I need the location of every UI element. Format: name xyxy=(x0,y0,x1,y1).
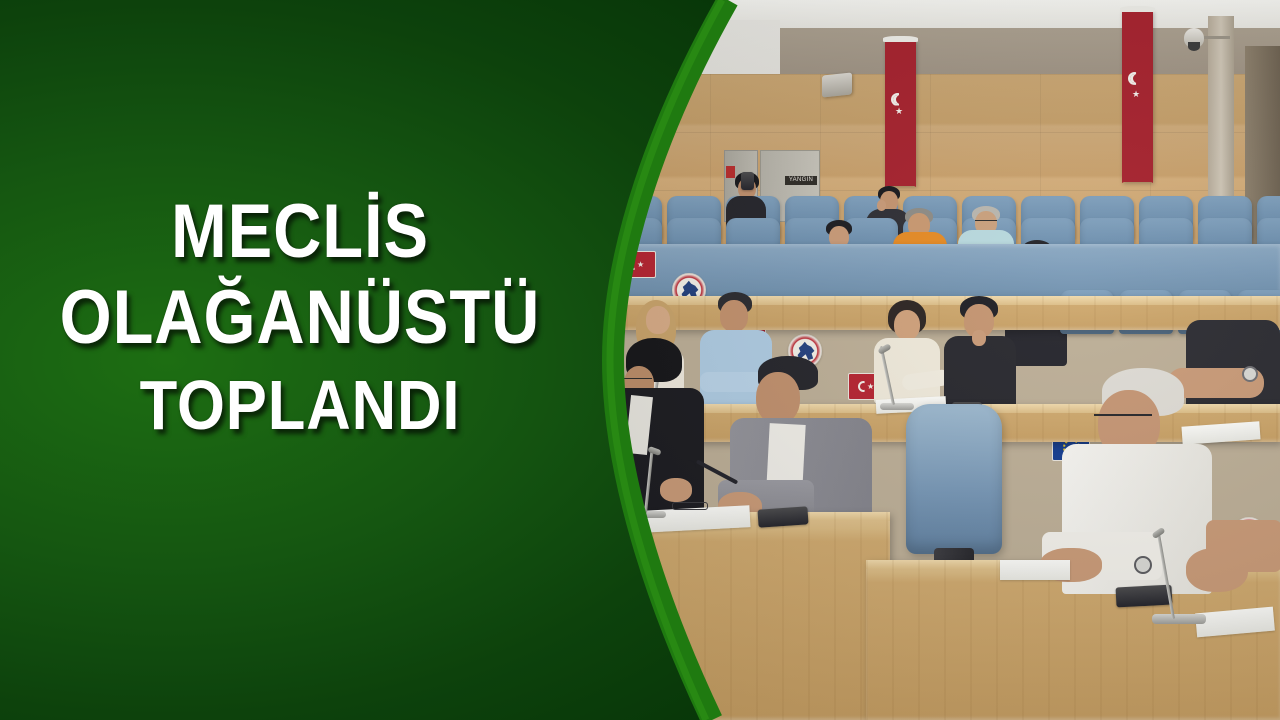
glasses-icon xyxy=(975,220,997,224)
desk-tier-3 xyxy=(600,296,1280,330)
head xyxy=(646,306,670,334)
mobile-phone xyxy=(1116,585,1173,608)
glasses-icon xyxy=(620,378,652,382)
hand xyxy=(877,200,886,211)
paper-stack xyxy=(1000,560,1070,580)
banner-notch xyxy=(1122,167,1153,183)
mobile-phone xyxy=(757,506,808,527)
turkish-flag-banner xyxy=(1122,10,1153,182)
turkish-flag-banner xyxy=(885,40,916,186)
news-banner-image: YANGIN xyxy=(0,0,1280,720)
chair xyxy=(906,404,1002,554)
hand xyxy=(660,478,692,502)
microphone-base xyxy=(1152,614,1206,624)
microphone-base xyxy=(632,511,666,518)
torso xyxy=(1186,320,1280,412)
fire-cabinet-sign: YANGIN xyxy=(785,176,817,185)
security-camera-icon xyxy=(1184,28,1204,48)
hand xyxy=(972,330,986,346)
crescent-icon xyxy=(1128,72,1141,85)
headline-line-1: MECLİS xyxy=(36,196,564,268)
fire-alarm-box xyxy=(726,166,735,178)
wristwatch xyxy=(1242,366,1258,382)
page-title: MECLİS OLAĞANÜSTÜ TOPLANDI xyxy=(0,196,600,439)
eyeglasses xyxy=(672,502,708,510)
head xyxy=(756,372,800,424)
head xyxy=(720,300,748,332)
camera-mount xyxy=(1200,36,1230,39)
headline-line-3: TOPLANDI xyxy=(36,372,564,439)
microphone-base xyxy=(880,403,914,410)
wristwatch xyxy=(1134,556,1152,574)
head xyxy=(894,310,920,340)
headline-line-2: OLAĞANÜSTÜ xyxy=(36,282,564,354)
wall-speaker-icon xyxy=(822,72,852,97)
crescent-icon xyxy=(891,93,904,106)
glasses-icon xyxy=(1094,414,1152,418)
desk-surface xyxy=(600,296,1280,305)
star-icon: ★ xyxy=(637,261,644,269)
hand xyxy=(1186,548,1248,592)
mobile-phone xyxy=(741,172,754,190)
banner-notch xyxy=(885,171,916,187)
